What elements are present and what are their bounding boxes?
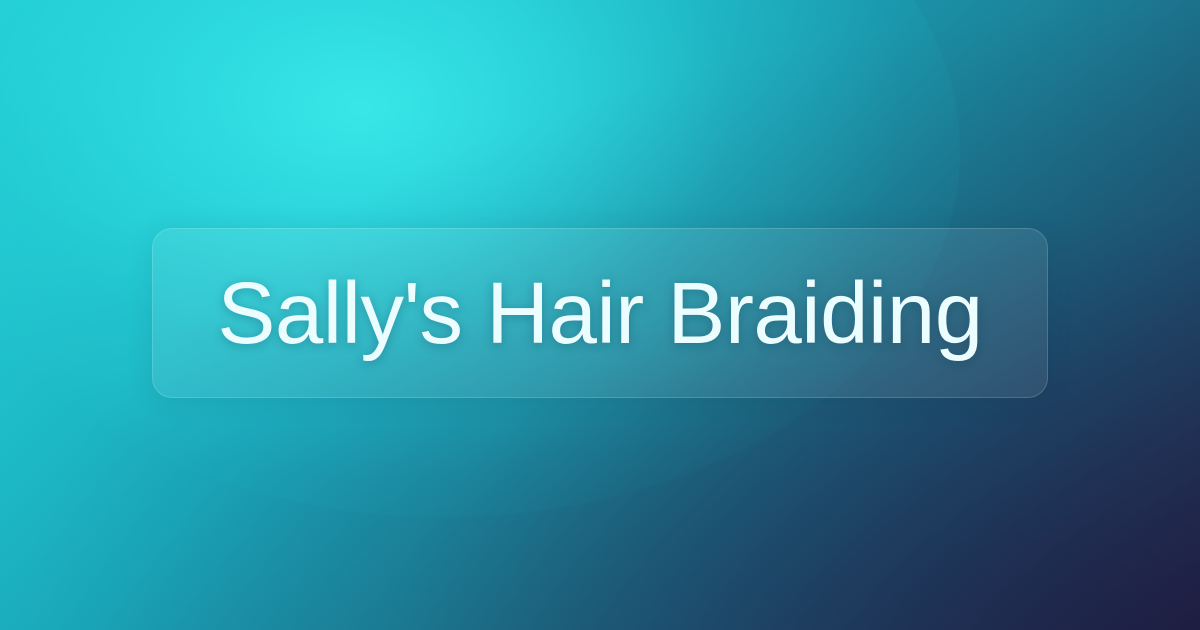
- og-preview-card: Sally's Hair Braiding: [0, 0, 1200, 630]
- title-panel: Sally's Hair Braiding: [152, 228, 1048, 398]
- page-title: Sally's Hair Braiding: [217, 270, 982, 357]
